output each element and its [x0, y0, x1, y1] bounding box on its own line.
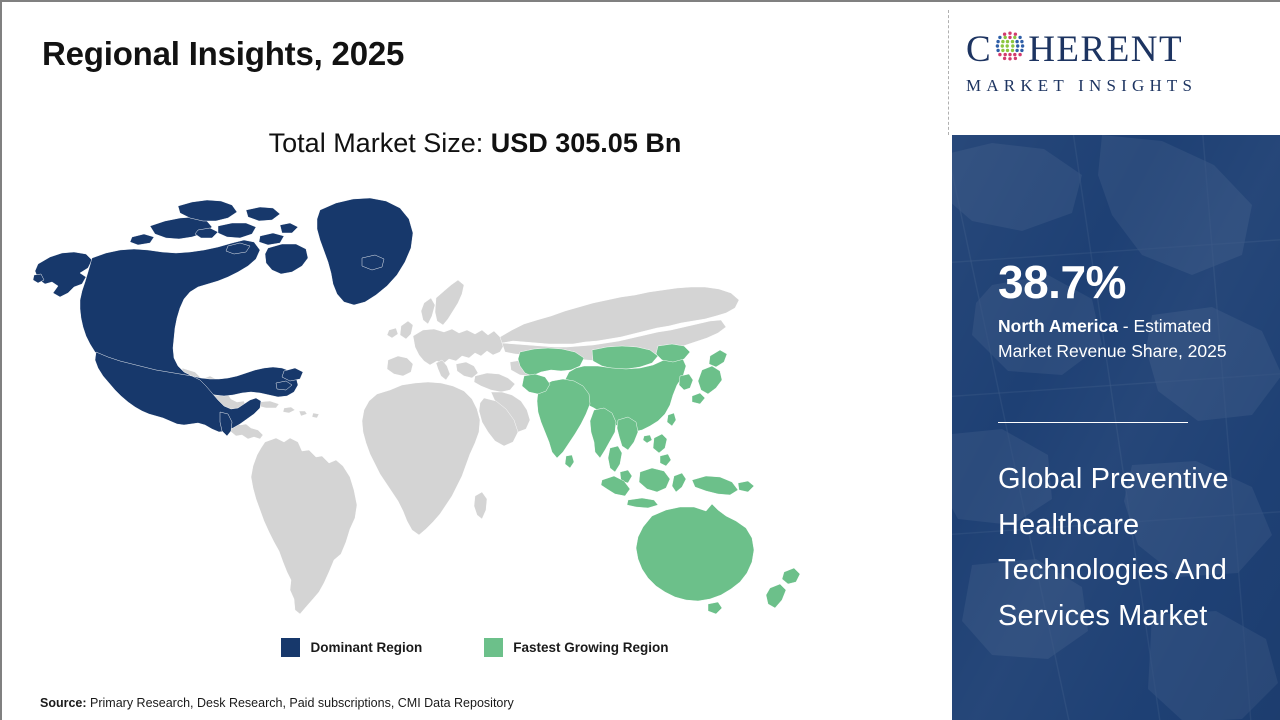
stat-caption: North America - Estimated Market Revenue…	[998, 314, 1260, 365]
stat-value: 38.7%	[998, 259, 1260, 306]
legend-item-fastest-growing: Fastest Growing Region	[484, 638, 668, 657]
market-size-value: USD 305.05 Bn	[491, 128, 682, 158]
stat-block: 38.7% North America - Estimated Market R…	[998, 259, 1260, 365]
brand-logo[interactable]: C	[966, 28, 1270, 96]
logo-word-post: HERENT	[1028, 31, 1183, 68]
market-size-label: Total Market Size:	[269, 128, 484, 158]
logo-area: C	[952, 2, 1280, 135]
market-title: Global Preventive Healthcare Technologie…	[998, 457, 1264, 639]
stat-panel: 38.7% North America - Estimated Market R…	[952, 135, 1280, 720]
logo-subtitle: MARKET INSIGHTS	[966, 76, 1270, 96]
logo-wordmark: C	[966, 28, 1270, 70]
legend-label-fastest-growing: Fastest Growing Region	[513, 640, 668, 655]
map-legend: Dominant Region Fastest Growing Region	[2, 638, 948, 657]
map-region-asia-pacific	[518, 344, 800, 614]
source-label: Source:	[40, 696, 87, 710]
total-market-size: Total Market Size: USD 305.05 Bn	[2, 128, 948, 159]
panel-divider	[948, 10, 949, 135]
stat-region: North America	[998, 316, 1118, 336]
square-swatch-icon	[484, 638, 503, 657]
page-title: Regional Insights, 2025	[42, 35, 404, 73]
logo-word-pre: C	[966, 31, 992, 68]
world-map-container	[32, 180, 832, 620]
infographic-slide: Regional Insights, 2025 Total Market Siz…	[0, 0, 1280, 720]
legend-label-dominant: Dominant Region	[310, 640, 422, 655]
dotted-globe-icon	[993, 29, 1027, 70]
left-content-panel: Regional Insights, 2025 Total Market Siz…	[2, 2, 948, 720]
right-sidebar-panel: C	[952, 2, 1280, 720]
square-swatch-icon	[281, 638, 300, 657]
legend-item-dominant: Dominant Region	[281, 638, 422, 657]
stat-divider-rule	[998, 422, 1188, 423]
world-map	[32, 180, 832, 620]
source-text: Primary Research, Desk Research, Paid su…	[87, 696, 514, 710]
source-note: Source: Primary Research, Desk Research,…	[40, 696, 514, 710]
